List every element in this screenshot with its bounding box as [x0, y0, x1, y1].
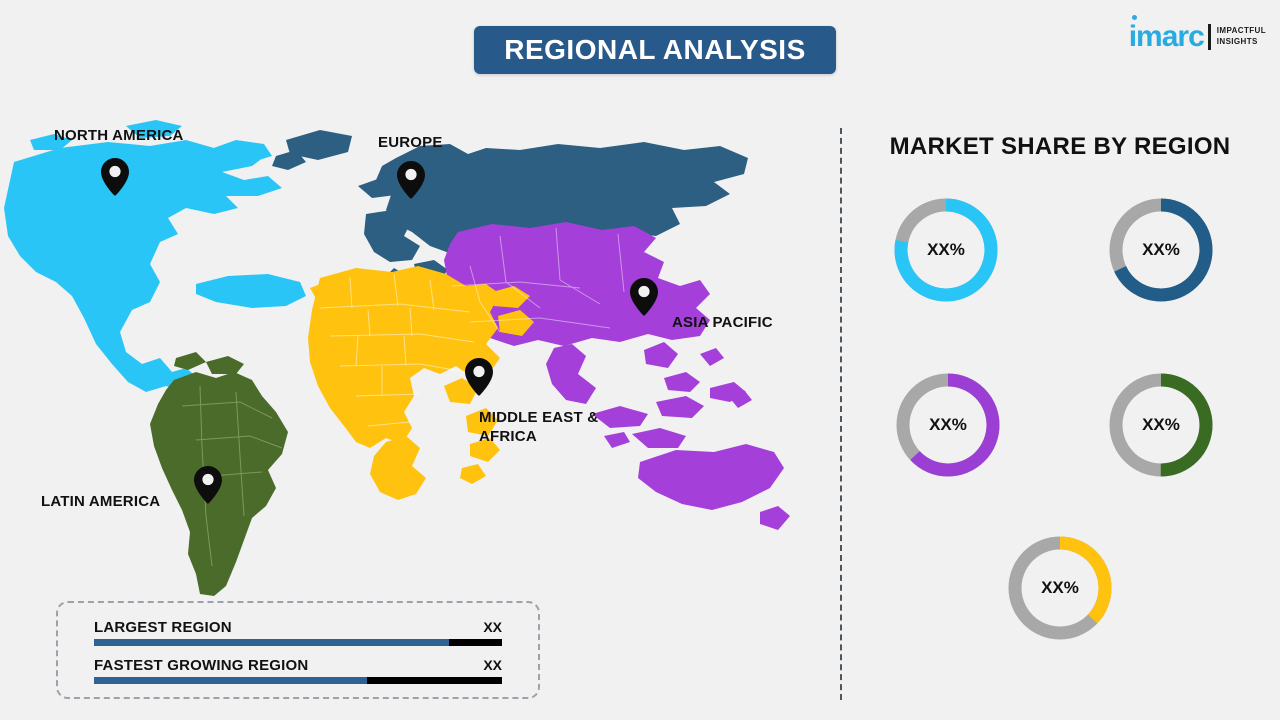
donut-value-north-america: XX% — [891, 195, 1001, 305]
donut-chart-latin-america: XX% — [1106, 370, 1216, 480]
logo-tagline: IMPACTFUL INSIGHTS — [1217, 26, 1266, 48]
donut-chart-europe: XX% — [1106, 195, 1216, 305]
legend-label-largest-region: LARGEST REGION — [94, 619, 232, 636]
logo-divider-bar — [1208, 24, 1211, 50]
map-label-north-america: NORTH AMERICA — [54, 126, 184, 145]
map-pin-latin-america[interactable] — [194, 466, 222, 504]
map-region-north-america — [4, 120, 306, 392]
donut-chart-asia-pacific: XX% — [893, 370, 1003, 480]
donut-chart-middle-east-africa: XX% — [1005, 533, 1115, 643]
donut-value-middle-east-africa: XX% — [1005, 533, 1115, 643]
logo-dot-icon — [1132, 15, 1137, 20]
map-region-middle-east-africa — [308, 266, 534, 500]
donut-chart-north-america: XX% — [891, 195, 1001, 305]
imarc-logo: imarc IMPACTFUL INSIGHTS — [1129, 18, 1266, 56]
map-pin-north-america[interactable] — [101, 158, 129, 196]
map-pin-asia-pacific[interactable] — [630, 278, 658, 316]
logo-wordmark: imarc — [1129, 22, 1204, 52]
page-title-banner: REGIONAL ANALYSIS — [474, 26, 836, 74]
map-label-latin-america: LATIN AMERICA — [41, 492, 160, 511]
donut-value-europe: XX% — [1106, 195, 1216, 305]
legend-box: LARGEST REGION XX FASTEST GROWING REGION… — [56, 601, 540, 699]
legend-value-largest-region: XX — [483, 619, 502, 635]
map-pin-europe[interactable] — [397, 161, 425, 199]
legend-bar-largest-region — [94, 639, 502, 646]
legend-label-fastest-growing-region: FASTEST GROWING REGION — [94, 657, 308, 674]
legend-bar-fill-fastest-growing-region — [94, 677, 367, 684]
panel-title: MARKET SHARE BY REGION — [840, 133, 1280, 161]
logo-wordmark-text: imarc — [1129, 20, 1204, 53]
legend-row-largest-region: LARGEST REGION XX — [94, 619, 502, 646]
legend-value-fastest-growing-region: XX — [483, 657, 502, 673]
page-title: REGIONAL ANALYSIS — [504, 34, 806, 66]
map-label-asia-pacific: ASIA PACIFIC — [672, 313, 773, 332]
map-label-europe: EUROPE — [378, 133, 443, 152]
legend-bar-fastest-growing-region — [94, 677, 502, 684]
logo-tagline-line1: IMPACTFUL — [1217, 26, 1266, 37]
legend-bar-fill-largest-region — [94, 639, 449, 646]
map-pin-middle-east-africa[interactable] — [465, 358, 493, 396]
vertical-divider — [840, 128, 842, 700]
logo-tagline-line2: INSIGHTS — [1217, 37, 1266, 48]
legend-row-fastest-growing-region: FASTEST GROWING REGION XX — [94, 657, 502, 684]
map-label-middle-east-africa: MIDDLE EAST & AFRICA — [479, 408, 598, 446]
donut-value-asia-pacific: XX% — [893, 370, 1003, 480]
map-region-asia-pacific — [444, 222, 790, 530]
donut-value-latin-america: XX% — [1106, 370, 1216, 480]
